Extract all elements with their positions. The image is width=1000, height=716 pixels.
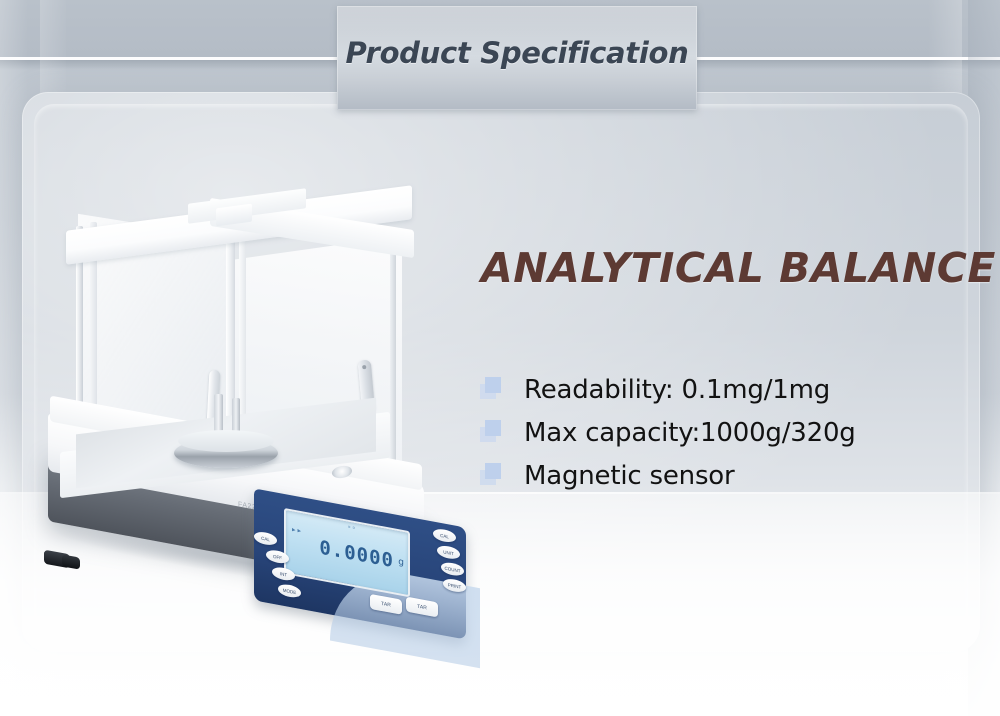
keypad-button-right-2[interactable]: UNIT [437,544,460,560]
lcd-weight-value: 0.0000 [319,536,394,572]
spec-list-item-label: Max capacity:1000g/320g [524,418,856,448]
page-title: ANALYTICAL BALANCE [481,244,996,292]
spec-list: Readability: 0.1mg/1mg Max capacity:1000… [480,368,856,497]
keypad-button-right-1[interactable]: CAL [433,528,456,544]
spec-list-item-label: Magnetic sensor [524,461,735,491]
header-banner: Product Specification [337,6,697,110]
banner-title: Product Specification [337,36,697,70]
keypad-button-left-4[interactable]: MODE [278,583,301,599]
product-spec-banner: Product Specification [0,0,1000,716]
lcd-display: ▸▸ ▫▫ 0.0000 g [284,508,410,597]
lcd-top-indicator-icons: ▫▫ [348,524,357,533]
bullet-square-icon [480,420,502,442]
control-panel: ▸▸ ▫▫ 0.0000 g CAL OFF INT MODE CAL UNIT… [254,488,466,639]
lcd-indicator-icons: ▸▸ [292,525,303,535]
bullet-square-icon [480,377,502,399]
weighing-pan-surface [178,430,274,452]
bullet-square-icon [480,463,502,485]
keypad-button-left-1[interactable]: CAL [254,530,277,546]
spec-list-item-label: Readability: 0.1mg/1mg [524,375,830,405]
analytical-balance-illustration: FA2204N ▸▸ ▫▫ 0.0000 g CAL OFF INT MODE … [38,180,458,650]
spec-list-item: Readability: 0.1mg/1mg [480,368,856,411]
keypad-button-right-3[interactable]: COUNT [441,561,464,577]
lcd-unit-label: g [398,557,404,568]
spec-list-item: Magnetic sensor [480,454,856,497]
spec-list-item: Max capacity:1000g/320g [480,411,856,454]
